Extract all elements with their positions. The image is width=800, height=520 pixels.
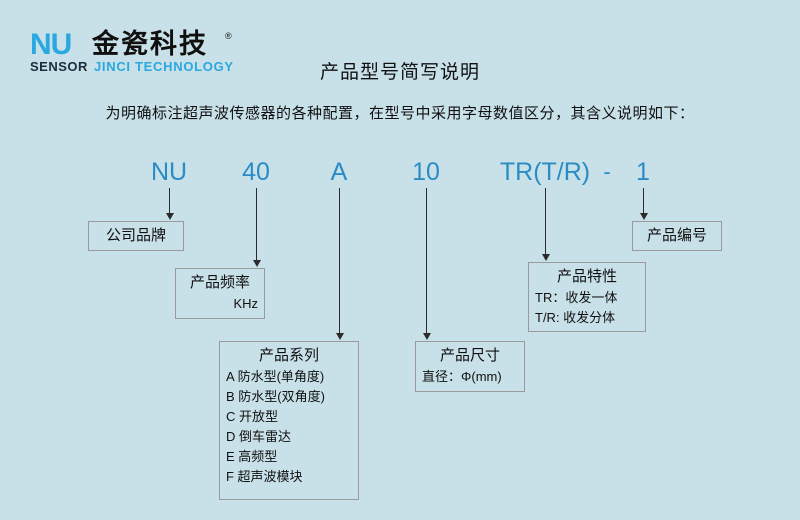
legend-box-line: E 高频型: [226, 447, 352, 467]
model-code-segment: A: [331, 155, 348, 189]
legend-box-line: D 倒车雷达: [226, 427, 352, 447]
legend-box-product-size: 产品尺寸直径：Φ(mm): [415, 341, 525, 392]
legend-box-line: T/R: 收发分体: [535, 308, 639, 328]
logo-nu-mark: NU: [30, 30, 71, 60]
legend-box-title: 产品系列: [226, 345, 352, 367]
model-code-segment: 1: [636, 155, 650, 189]
legend-box-line: TR：收发一体: [535, 288, 639, 308]
model-code-segment: -: [603, 155, 610, 189]
legend-box-title: 产品频率: [182, 272, 258, 294]
arrow-down-icon: [542, 254, 550, 261]
model-code-segment: 10: [412, 155, 440, 189]
model-code-row: NU40A10TR(T/R)-1: [0, 155, 800, 189]
connector-line: [545, 188, 546, 255]
legend-box-title: 产品特性: [535, 266, 639, 288]
page-title: 产品型号简写说明: [0, 57, 800, 84]
arrow-down-icon: [640, 213, 648, 220]
page-subtitle: 为明确标注超声波传感器的各种配置，在型号中采用字母数值区分，其含义说明如下：: [0, 102, 800, 123]
model-code-segment: NU: [151, 155, 187, 189]
model-code-segment: 40: [242, 155, 270, 189]
connector-line: [339, 188, 340, 334]
connector-line: [426, 188, 427, 334]
registered-trademark-icon: ®: [225, 31, 232, 41]
arrow-down-icon: [423, 333, 431, 340]
logo-brand-chinese: 金瓷科技: [92, 28, 208, 60]
arrow-down-icon: [253, 260, 261, 267]
legend-box-line: C 开放型: [226, 407, 352, 427]
connector-line: [256, 188, 257, 261]
legend-box-line: KHz: [182, 294, 258, 314]
legend-box-line: 直径：Φ(mm): [422, 367, 518, 387]
legend-box-product-feature: 产品特性TR：收发一体T/R: 收发分体: [528, 262, 646, 332]
legend-box-product-frequency: 产品频率KHz: [175, 268, 265, 319]
legend-box-title: 产品尺寸: [422, 345, 518, 367]
arrow-down-icon: [166, 213, 174, 220]
legend-box-line: F 超声波模块: [226, 467, 352, 487]
legend-box-company-brand: 公司品牌: [88, 221, 184, 251]
legend-box-line: A 防水型(单角度): [226, 367, 352, 387]
connector-line: [169, 188, 170, 214]
legend-box-title: 公司品牌: [95, 225, 177, 247]
legend-box-title: 产品编号: [639, 225, 715, 247]
legend-box-line: B 防水型(双角度): [226, 387, 352, 407]
model-code-segment: TR(T/R): [500, 155, 590, 189]
legend-box-product-series: 产品系列A 防水型(单角度)B 防水型(双角度)C 开放型D 倒车雷达E 高频型…: [219, 341, 359, 500]
connector-line: [643, 188, 644, 214]
arrow-down-icon: [336, 333, 344, 340]
product-model-diagram-page: NU SENSOR 金瓷科技 ® JINCI TECHNOLOGY 产品型号简写…: [0, 0, 800, 520]
legend-box-product-number: 产品编号: [632, 221, 722, 251]
